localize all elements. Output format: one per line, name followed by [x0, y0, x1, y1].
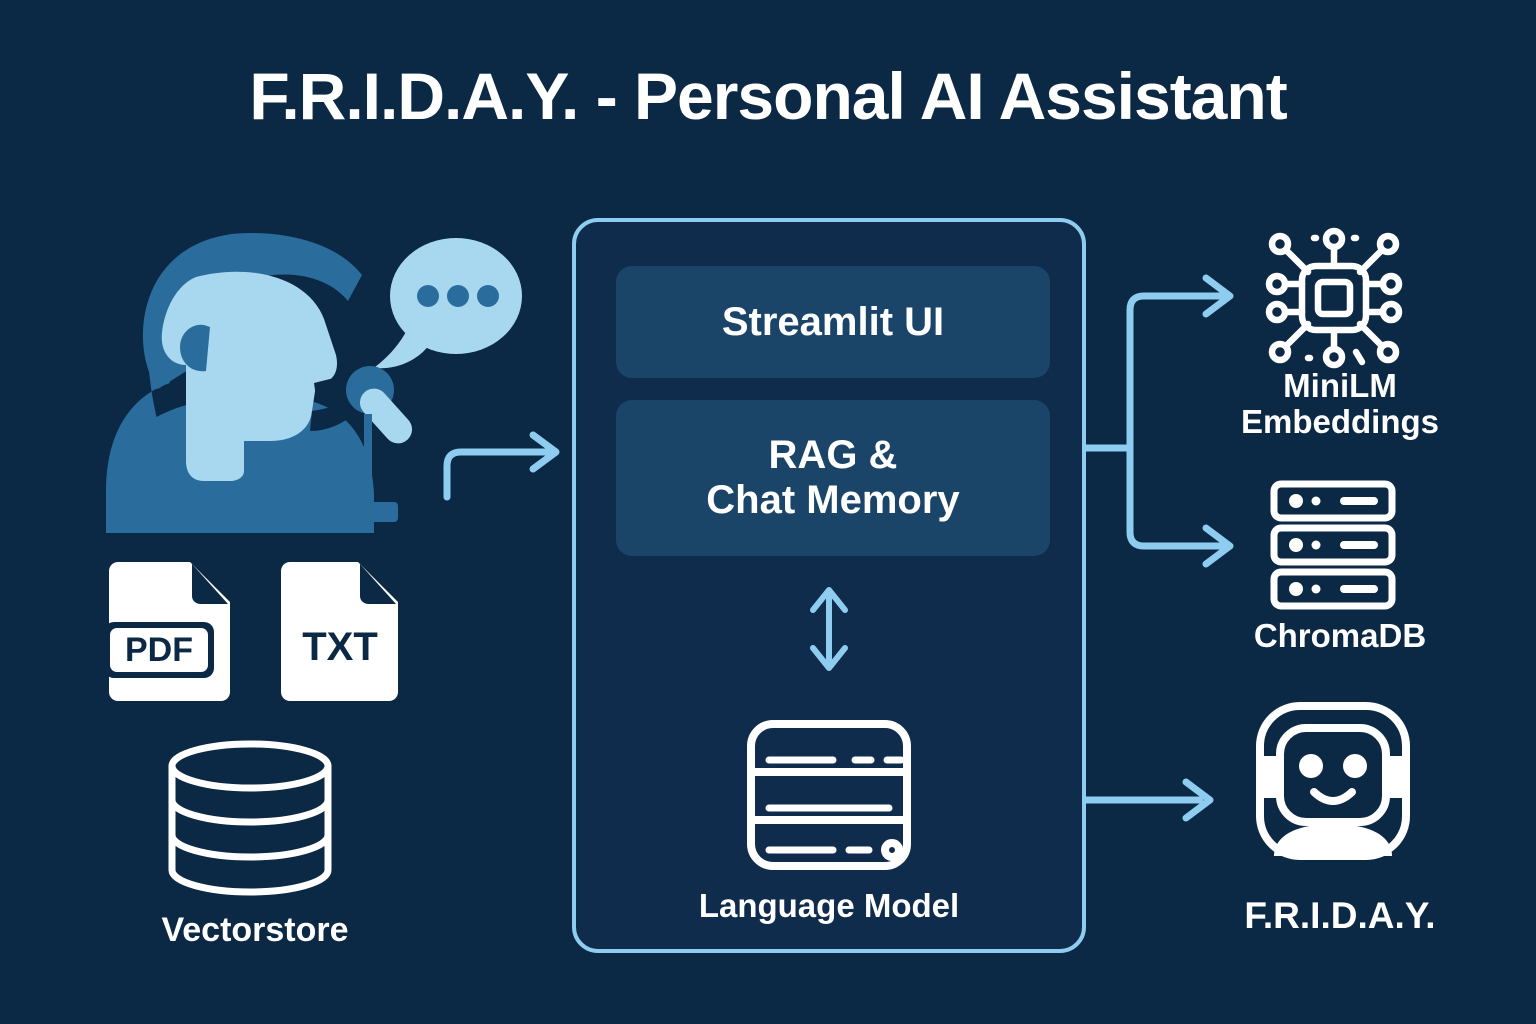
- card-streamlit-ui-label: Streamlit UI: [722, 300, 944, 345]
- txt-file-icon: TXT: [280, 556, 406, 704]
- minilm-embeddings-label: MiniLM Embeddings: [1180, 368, 1500, 441]
- card-rag-chat-memory-label: RAG & Chat Memory: [706, 433, 959, 523]
- robot-face-icon: [1238, 698, 1428, 878]
- card-rag-chat-memory[interactable]: RAG & Chat Memory: [616, 400, 1050, 556]
- txt-file-label: TXT: [302, 625, 378, 669]
- database-cylinder-icon: [160, 738, 340, 898]
- microphone-icon: [336, 362, 436, 530]
- language-model-label: Language Model: [576, 887, 1082, 925]
- server-rack-icon: [1266, 478, 1400, 612]
- chip-neural-icon: [1258, 222, 1410, 374]
- friday-assistant-label: F.R.I.D.A.Y.: [1180, 896, 1500, 937]
- connector-input-to-panel: [447, 435, 556, 497]
- up-down-arrow-icon: [806, 582, 852, 676]
- vectorstore-label: Vectorstore: [90, 912, 420, 949]
- center-panel: Streamlit UI RAG & Chat Memory: [572, 218, 1086, 953]
- pdf-file-icon: PDF: [104, 556, 244, 704]
- server-stack-icon: [729, 710, 929, 880]
- pdf-file-label: PDF: [125, 631, 193, 669]
- page-title: F.R.I.D.A.Y. - Personal AI Assistant: [0, 58, 1536, 134]
- chromadb-label: ChromaDB: [1180, 618, 1500, 654]
- diagram-canvas: F.R.I.D.A.Y. - Personal AI Assistant: [0, 0, 1536, 1024]
- connector-panel-to-friday: [1086, 782, 1210, 818]
- card-streamlit-ui[interactable]: Streamlit UI: [616, 266, 1050, 378]
- speech-bubble-icon: [372, 232, 524, 382]
